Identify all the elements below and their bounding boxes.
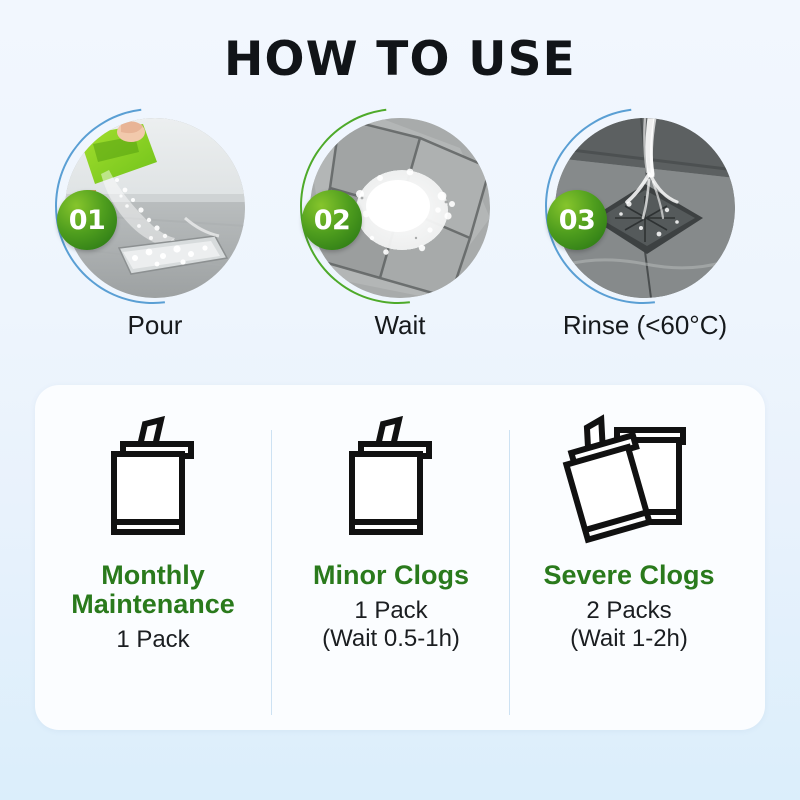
step-item-01: 01 Pour xyxy=(35,118,275,358)
step-circle-03: 03 xyxy=(555,118,735,298)
step-badge-03: 03 xyxy=(547,190,607,250)
single-packet-icon xyxy=(273,407,509,557)
step-ring-01 xyxy=(15,68,290,343)
usage-card: Monthly Maintenance 1 Pack Minor Clogs 1… xyxy=(35,385,765,730)
usage-column-severe-clogs: Severe Clogs 2 Packs (Wait 1-2h) xyxy=(511,407,747,653)
step-ring-02 xyxy=(260,68,535,343)
step-circle-02: 02 xyxy=(310,118,490,298)
column-subtitle: 2 Packs (Wait 1-2h) xyxy=(511,597,747,653)
page-title: HOW TO USE xyxy=(0,36,800,83)
column-title: Minor Clogs xyxy=(273,561,509,590)
column-divider-2 xyxy=(509,430,510,715)
step-label-03: Rinse (<60°C) xyxy=(500,310,790,341)
step-badge-02: 02 xyxy=(302,190,362,250)
usage-column-monthly-maintenance: Monthly Maintenance 1 Pack xyxy=(35,407,271,654)
step-item-02: 02 Wait xyxy=(280,118,520,358)
column-divider-1 xyxy=(271,430,272,715)
step-badge-01: 01 xyxy=(57,190,117,250)
usage-column-minor-clogs: Minor Clogs 1 Pack (Wait 0.5-1h) xyxy=(273,407,509,653)
step-item-03: 03 Rinse (<60°C) xyxy=(525,118,765,358)
single-packet-icon xyxy=(35,407,271,557)
steps-row: 01 Pour xyxy=(0,118,800,358)
step-ring-03 xyxy=(505,68,780,343)
column-subtitle: 1 Pack xyxy=(35,626,271,654)
double-packet-icon xyxy=(511,407,747,557)
step-circle-01: 01 xyxy=(65,118,245,298)
column-title: Monthly Maintenance xyxy=(35,561,271,619)
column-subtitle: 1 Pack (Wait 0.5-1h) xyxy=(273,597,509,653)
column-title: Severe Clogs xyxy=(511,561,747,590)
